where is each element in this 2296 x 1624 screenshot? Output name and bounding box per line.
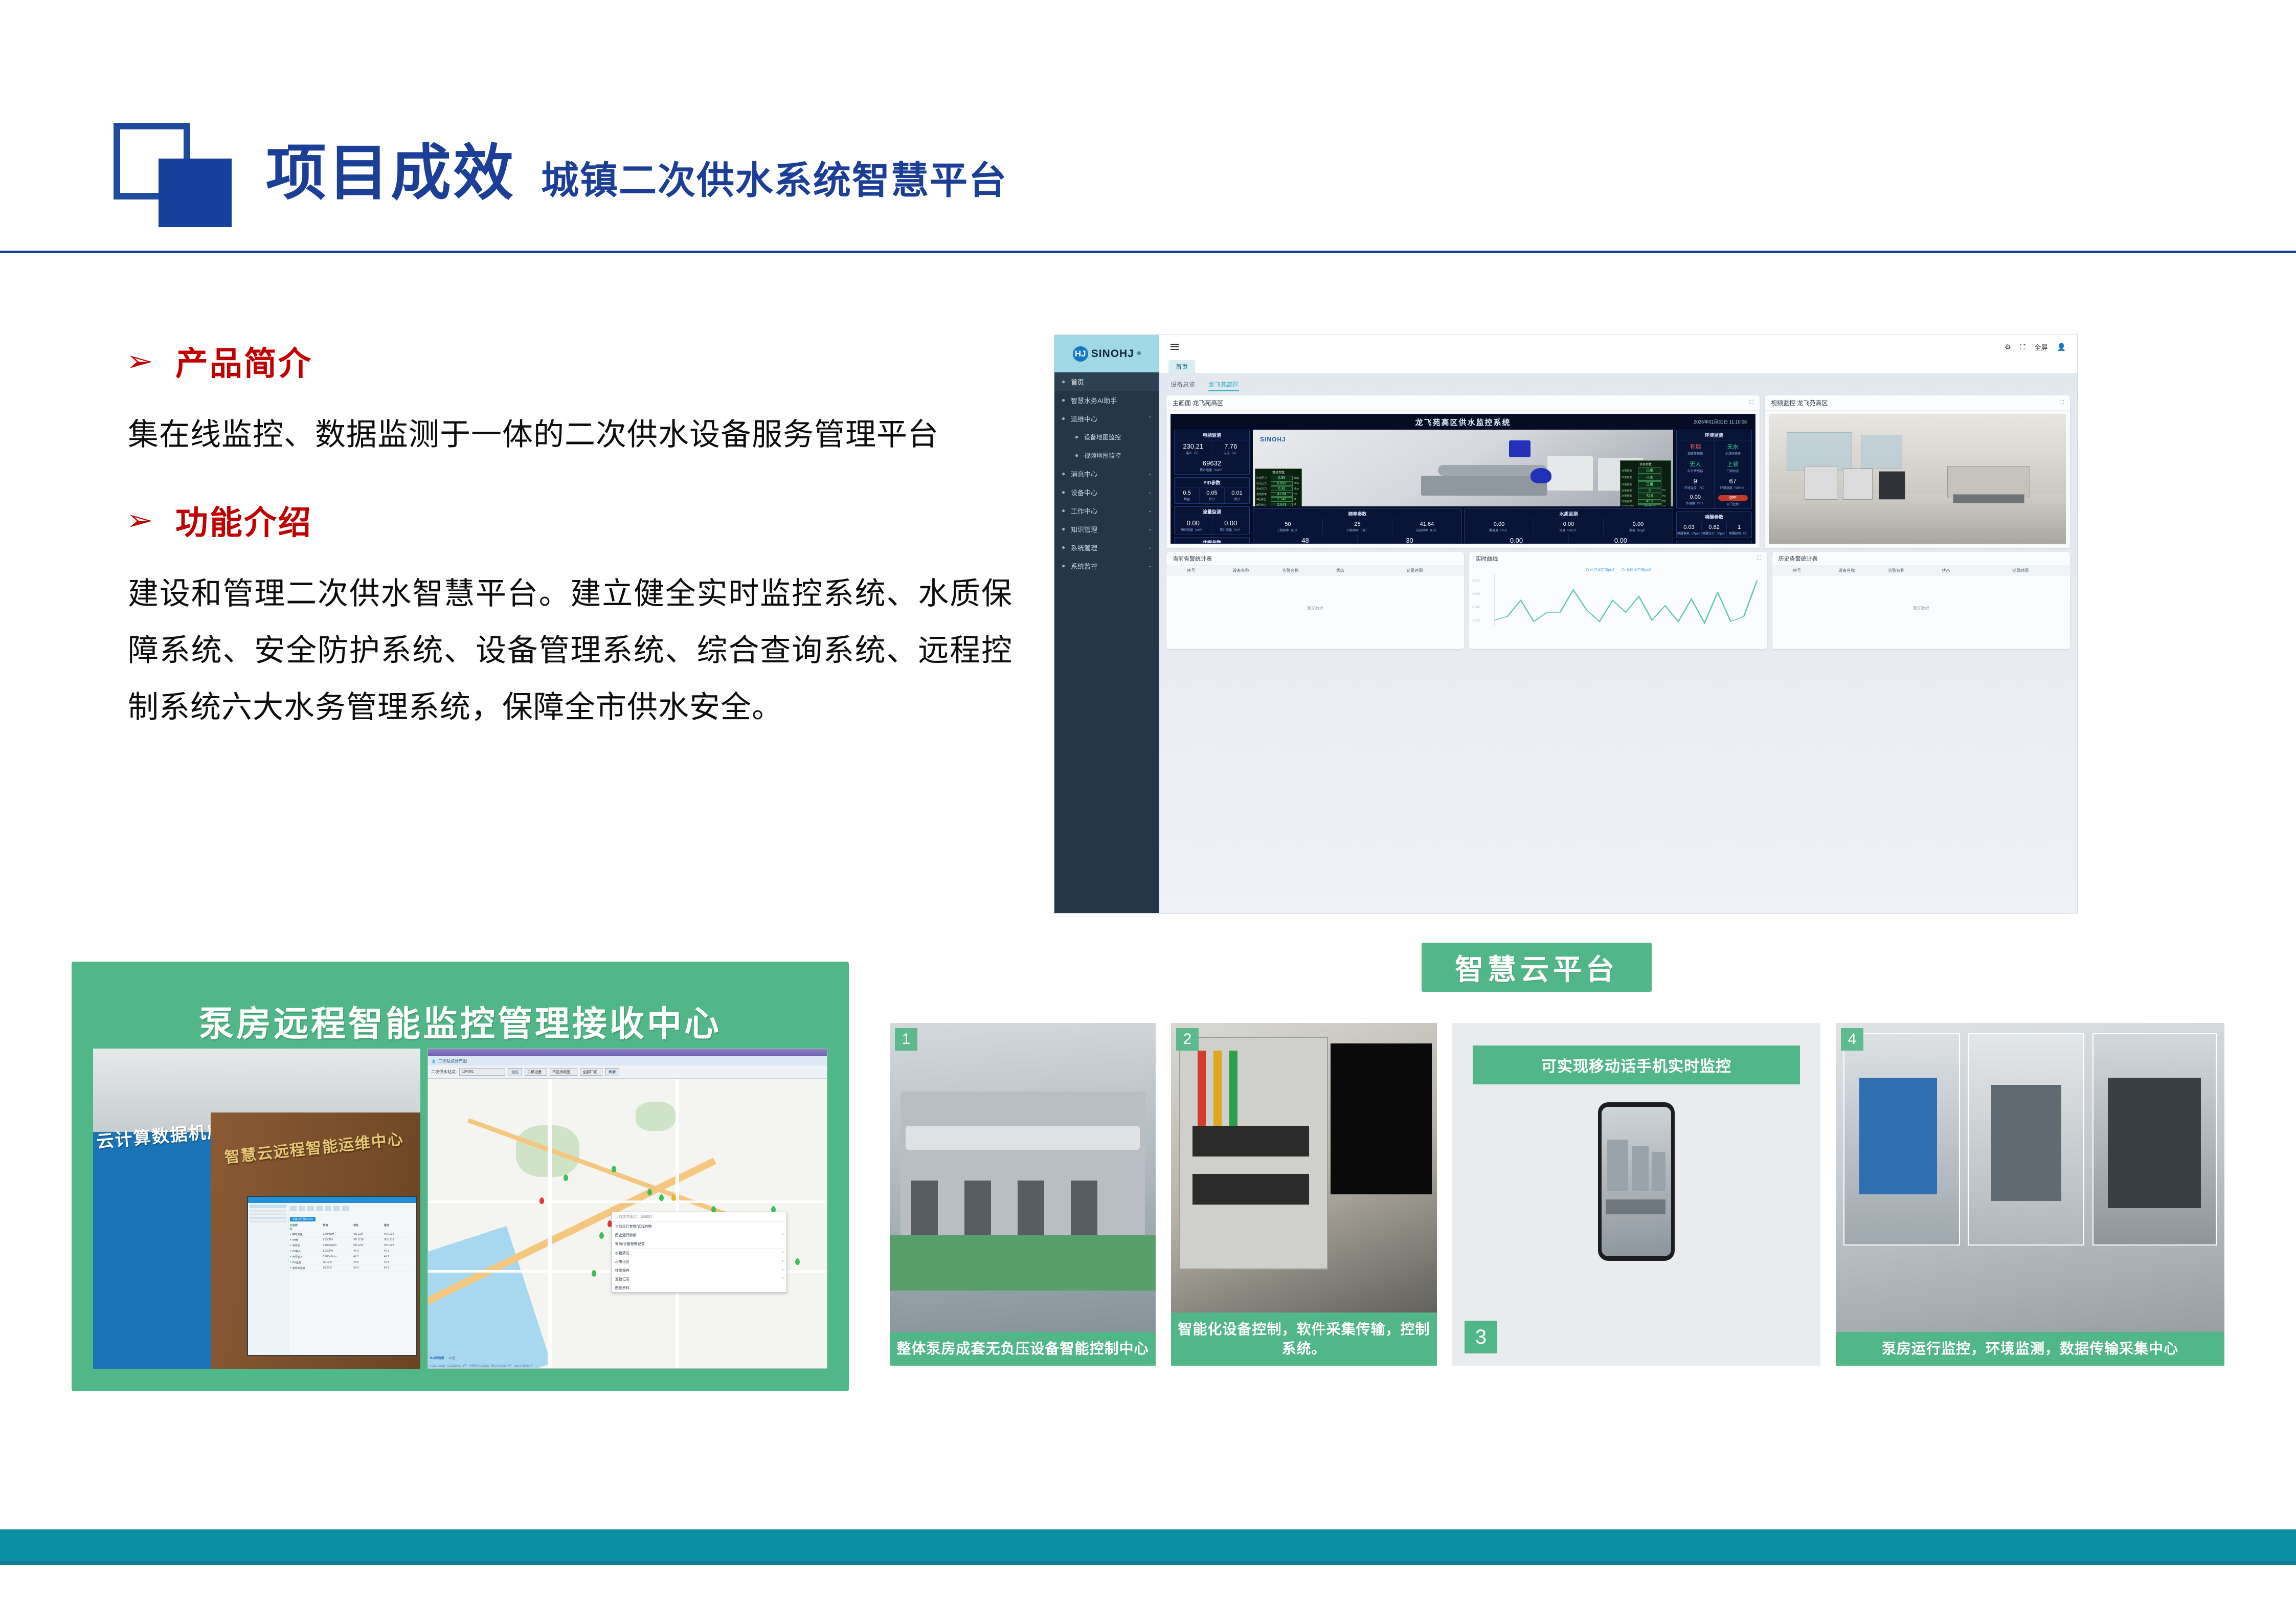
locate-button[interactable]: 定位 xyxy=(508,1068,522,1076)
site-select-input[interactable]: 104001 xyxy=(459,1068,505,1076)
monitor-table-row: ●PH输入8.250PH4X 34X 3 xyxy=(290,1249,415,1255)
dashboard-screenshot: HJ SINOHJ ® ●首页●智慧水务AI助手●运维中心⌃●设备地图监控●视频… xyxy=(1054,335,2077,913)
scada-box-environment: 环境监测有烟烟雾传感器无水水浸传感器无人红外传感器上锁门锁状态9环境温度（℃）6… xyxy=(1676,430,1752,509)
pump-param-value: 2.148 xyxy=(1271,497,1293,502)
sidebar-item-label: 首页 xyxy=(1071,377,1084,387)
chart-legend: 压力设定值pic3管网压力值pic3 xyxy=(1473,567,1763,572)
dashboard-body: 设备总览龙飞苑高区 主画面 龙飞苑高区 ⛶ 龙飞苑高区供水监控系统 2026年0… xyxy=(1159,373,2077,913)
section-heading-product: ➢ 产品简介 xyxy=(128,338,1012,385)
scada-box-title: 唤醒参数 xyxy=(1677,512,1751,522)
scada-value-cell: 0.03唤醒偏差（Mpa） xyxy=(1677,522,1702,538)
water-param-unit: Hz xyxy=(1662,489,1670,492)
dashboard-cards-row: 主画面 龙飞苑高区 ⛶ 龙飞苑高区供水监控系统 2026年01月31日 11:1… xyxy=(1166,395,2070,548)
chevron-right-icon: › xyxy=(782,1251,783,1256)
scada-value-cell: 7.76电流（A） xyxy=(1212,440,1250,457)
scada-screen: 龙飞苑高区供水监控系统 2026年01月31日 11:10:08 电能监测230… xyxy=(1170,414,1755,544)
scada-status-cell: 有烟烟雾传感器 xyxy=(1677,440,1715,458)
pump-params-overlay: 泵机参数 进水压力0.85Mpa出水压力0.859Mpa低水压力0.38Mpa变… xyxy=(1255,469,1302,506)
map-context-menu[interactable]: 当前选中站点：104001 当前运行参数/远程控制历史运行参数›安防/设备报警记… xyxy=(612,1212,787,1293)
water-param-value: 350600 xyxy=(1638,504,1661,506)
baidu-map-logo: Bai百地图 xyxy=(430,1355,444,1360)
chevron-icon[interactable]: ⌄ xyxy=(1148,471,1152,477)
water-quality-panel: 水质监测0.00酸碱度（PH）0.00浊度（NTU）0.00余氯（mg/l）0.… xyxy=(1464,508,1673,544)
card-scada-header: 主画面 龙飞苑高区 ⛶ xyxy=(1166,395,1760,411)
map-pin-site[interactable] xyxy=(647,1189,652,1195)
tile-caption-3: 可实现移动话手机实时监控 xyxy=(1473,1045,1800,1084)
scada-value-cell: 25下限频率（Hz） xyxy=(1323,519,1392,535)
water-param-label: 3#泵频率 xyxy=(1622,500,1637,503)
subtab-设备总览[interactable]: 设备总览 xyxy=(1170,380,1195,391)
footer-accent-line xyxy=(0,1561,2296,1565)
topbar-actions: ⚙ ⛶ 全屏 👤 xyxy=(2005,342,2066,352)
scada-value-cell: 0.00累计流量（m³） xyxy=(1212,517,1250,534)
current-alarms-header: 当前告警统计表 xyxy=(1166,552,1464,565)
toolbar-icon-边缘计算[interactable] xyxy=(316,1206,323,1211)
map-pin-site[interactable] xyxy=(599,1232,604,1239)
sidebar-item-label: 视频地图监控 xyxy=(1084,451,1121,460)
scada-box-水质监测: 水质监测0.00酸碱度（PH）0.00浊度（NTU）0.00余氯（mg/l）0.… xyxy=(1464,508,1673,544)
pump-param-row: 变频频率41.64Hz xyxy=(1256,492,1300,497)
scada-value-row: 0.03唤醒偏差（Mpa）0.82唤醒压力（Mpa）1唤醒延时（S） xyxy=(1677,522,1751,538)
toolbar-icon-视频公诉[interactable] xyxy=(333,1206,340,1211)
fullscreen-label[interactable]: 全屏 xyxy=(2035,342,2048,352)
card-video-header: 视频监控 龙飞苑高区 ⛶ xyxy=(1765,395,2070,411)
sidebar-item-运维中心[interactable]: ●运维中心⌃ xyxy=(1054,409,1159,428)
sidebar-item-工作中心[interactable]: ●工作中心⌄ xyxy=(1054,501,1159,520)
column-header: 序号 xyxy=(1772,568,1822,573)
card-scada: 主画面 龙飞苑高区 ⛶ 龙飞苑高区供水监控系统 2026年01月31日 11:1… xyxy=(1166,395,1760,548)
chart-svg xyxy=(1473,572,1763,629)
monitor-table-row: ●瞬时流量0.00m3/HVD 1234VD 1234 xyxy=(290,1232,415,1238)
water-param-label: 1#累计时长 xyxy=(1622,505,1637,506)
scada-value-label: 累计电量（Kwh） xyxy=(1175,468,1249,472)
legend-label: 管网压力值pic3 xyxy=(1626,568,1651,572)
scada-box-PID参数: PID参数0.5增益0.05积分0.01微分 xyxy=(1174,477,1250,504)
equipment-render xyxy=(1607,1140,1628,1190)
blue-cabinet xyxy=(1859,1078,1937,1194)
water-param-value: 已用 xyxy=(1638,475,1661,481)
water-param-value: 0 xyxy=(1638,488,1661,493)
map-window-title: 二供站点分布图 xyxy=(438,1058,467,1064)
scada-value-label: 水温度（℃） xyxy=(1677,501,1714,505)
scada-value-label: 微分 xyxy=(1225,497,1249,501)
sidebar-item-设备中心[interactable]: ●设备中心⌄ xyxy=(1054,483,1159,501)
chevron-right-icon: › xyxy=(782,1233,783,1238)
water-param-unit: Hz xyxy=(1662,495,1670,498)
expand-icon[interactable]: ⛶ xyxy=(1757,555,1761,562)
scada-value-label: 唤醒压力（Mpa） xyxy=(1702,531,1726,536)
scada-value: 0.03 xyxy=(1677,524,1701,530)
scada-value-cell: 230.21电压（V） xyxy=(1175,440,1212,457)
scada-left-column: 电能监测230.21电压（V）7.76电流（A）69632累计电量（Kwh）PI… xyxy=(1174,430,1250,544)
scada-value-label: 环境温度（℃） xyxy=(1677,485,1714,490)
water-param-label: 2#泵频率 xyxy=(1622,494,1637,498)
product-intro-paragraph: 集在线监控、数据监测于一体的二次供水设备服务管理平台 xyxy=(128,406,1012,463)
pump-param-row: 进水压力0.85Mpa xyxy=(1256,476,1300,480)
pump-param-unit: Mpa xyxy=(1294,482,1300,485)
scada-value-cell: 48变频切换频率（Hz） xyxy=(1253,535,1358,544)
scada-value-cell: 0.00溶解氧（mg/l） xyxy=(1465,535,1569,544)
toolbar-icon-测点配置[interactable] xyxy=(342,1206,349,1211)
scada-value-cell: 0.00电导率（μs/cm） xyxy=(1569,535,1673,544)
scada-value-label: 浊度（NTU） xyxy=(1535,528,1603,532)
chevron-icon[interactable]: ⌃ xyxy=(1148,416,1152,421)
device-type-select[interactable]: 二供设备 xyxy=(525,1068,547,1076)
device-description: 4X 3 xyxy=(384,1250,415,1253)
legend-item[interactable]: 压力设定值pic3 xyxy=(1586,567,1615,572)
scada-value-row: 0.00水温度（℃）OFF开门控制 xyxy=(1677,492,1751,508)
monitor-titlebar xyxy=(248,1197,416,1203)
section-label-product: 产品简介 xyxy=(175,338,312,385)
message-icon: ● xyxy=(1062,470,1071,477)
fullscreen-icon[interactable]: ⛶ xyxy=(2020,343,2025,351)
scada-value-label: 累计流量（m³） xyxy=(1213,527,1249,532)
terminal-block xyxy=(1192,1174,1310,1205)
column-header: 告警名称 xyxy=(1266,568,1315,573)
legend-item[interactable]: 管网压力值pic3 xyxy=(1622,567,1651,572)
scada-value: 50 xyxy=(1254,521,1322,527)
history-alarms-header: 历史告警统计表 xyxy=(1772,552,2070,565)
wall-monitor: 设备运行监控 (61) 状态名称数值地址描述 ●瞬时流量0.00m3/HVD 1… xyxy=(247,1196,417,1356)
context-menu-item[interactable]: 历史运行参数› xyxy=(612,1231,786,1239)
water-params-title: 水机参数 xyxy=(1622,462,1670,466)
scada-value: 69632 xyxy=(1175,459,1249,467)
current-alarms-columns: 序号设备名称告警名称状态记录时间 xyxy=(1166,565,1464,576)
tree-search-box[interactable] xyxy=(250,1205,286,1208)
sidebar-item-系统监控[interactable]: ●系统监控⌄ xyxy=(1054,557,1159,575)
context-menu-item[interactable]: 水箱清洗› xyxy=(612,1248,786,1257)
park-area xyxy=(636,1102,676,1131)
footer-band xyxy=(0,1529,2296,1561)
ribbon-title: 泵房远程智能监控管理接收中心 xyxy=(72,995,849,1046)
sidebar-item-label: 系统监控 xyxy=(1071,561,1097,571)
sidebar-item-视频地图监控[interactable]: ●视频地图监控 xyxy=(1054,446,1159,464)
y-tick-label: 0.050 xyxy=(1472,588,1480,601)
map-pin-site[interactable] xyxy=(612,1166,616,1172)
pump-param-unit: Hz xyxy=(1294,493,1300,496)
scada-value: 0.00 xyxy=(1604,521,1672,527)
current-alarms-title: 当前告警统计表 xyxy=(1173,554,1212,563)
map-canvas[interactable]: 当前选中站点：104001 当前运行参数/远程控制历史运行参数›安防/设备报警记… xyxy=(428,1079,827,1368)
scada-box-title: 休眠参数 xyxy=(1175,538,1249,544)
scada-value-row: 48变频切换频率（Hz）30工频切除频率（Hz） xyxy=(1253,535,1461,544)
base-frame xyxy=(1606,1199,1665,1214)
monitor-icon: ● xyxy=(1062,562,1071,569)
context-menu-header: 当前选中站点：104001 xyxy=(612,1212,786,1222)
scada-box-换泵参数: 换泵参数1轮换方式480轮换时间3泵台数 xyxy=(1676,541,1752,544)
sidebar-item-首页[interactable]: ●首页 xyxy=(1054,372,1159,391)
scada-value: 0.00 xyxy=(1535,521,1603,527)
device-address: VD 1222 xyxy=(353,1244,384,1248)
water-param-unit: Hz xyxy=(1662,500,1670,503)
gray-cabinet xyxy=(1991,1085,2061,1202)
scada-value: 0.82 xyxy=(1702,524,1726,530)
dashboard-logo: HJ SINOHJ ® xyxy=(1054,335,1159,372)
scada-value: 41.64 xyxy=(1393,521,1461,527)
scada-box-频率参数: 频率参数50上限频率（Hz）25下限频率（Hz）41.64当前频率（Hz）48变… xyxy=(1253,508,1462,544)
sidebar-item-消息中心[interactable]: ●消息中心⌄ xyxy=(1054,464,1159,483)
scada-value-cell: 30工频切除频率（Hz） xyxy=(1358,535,1461,544)
context-menu-item[interactable]: 图纸资料 xyxy=(612,1283,786,1292)
photo-tile-2: 2 智能化设备控制，软件采集传输，控制系统。 xyxy=(1171,1023,1437,1366)
context-menu-item[interactable]: 巡检记录› xyxy=(612,1275,786,1283)
chevron-icon[interactable]: ⌄ xyxy=(1148,545,1152,550)
sidebar-item-系统管理[interactable]: ●系统管理⌄ xyxy=(1054,538,1159,557)
manifold-pipe xyxy=(906,1126,1140,1150)
y-tick-label: 0.061 xyxy=(1472,574,1480,588)
pump-param-label: 变频频率 xyxy=(1256,493,1270,496)
scada-box-title: 频率参数 xyxy=(1253,509,1461,519)
scada-value: 0.00 xyxy=(1677,494,1714,500)
context-menu-label: 水箱清洗 xyxy=(615,1251,629,1256)
title-row: 项目成效 城镇二次供水系统智慧平台 xyxy=(266,143,1007,204)
scada-value: 0.5 xyxy=(1175,490,1199,496)
pump-param-label: A柜液位 xyxy=(1256,498,1270,501)
scada-box-title: 换泵参数 xyxy=(1677,541,1751,544)
context-menu-item[interactable]: 安防/设备报警记录 xyxy=(612,1239,786,1248)
site-map-photo: 💧 二供站点分布图 二次供水站点: 104001 定位 二供设备 不显示标签 全… xyxy=(427,1049,827,1369)
device-description: VD 1234 xyxy=(384,1233,415,1236)
scada-value: 30 xyxy=(1358,537,1461,544)
epoxy-floor xyxy=(890,1235,1156,1290)
context-menu-label: 水质化验 xyxy=(615,1259,629,1264)
sidebar-item-label: 设备中心 xyxy=(1071,487,1097,497)
scada-box-休眠参数: 休眠参数41休眠频率（Hz）5休眠延时（S） xyxy=(1174,537,1250,544)
history-alarms-columns: 序号设备名称告警名称状态记录时间 xyxy=(1772,565,2070,576)
chevron-icon[interactable]: ⌄ xyxy=(1148,526,1152,532)
current-alarms-empty: 暂无数据 xyxy=(1166,576,1464,611)
scada-value: 0.01 xyxy=(1225,490,1249,496)
scada-status-cell: 无人红外传感器 xyxy=(1677,458,1715,475)
legend-label: 压力设定值pic3 xyxy=(1590,568,1615,572)
device-monitor-badge: 设备运行监控 (61) xyxy=(290,1217,316,1221)
context-menu-items: 当前运行参数/远程控制历史运行参数›安防/设备报警记录水箱清洗›水质化验›维修保… xyxy=(612,1222,786,1292)
context-menu-item[interactable]: 水质化验› xyxy=(612,1257,786,1266)
realtime-chart: 压力设定值pic3管网压力值pic3 0.0610.0500.0450.032 xyxy=(1469,565,1767,637)
sidebar-item-设备地图监控[interactable]: ●设备地图监控 xyxy=(1054,428,1159,446)
monitor-column-header: 名称 xyxy=(292,1223,323,1231)
water-param-value: 已用 xyxy=(1638,481,1661,487)
map-attribution: © 2021 Baidu - GS(2019)5218号 - 甲测资字11009… xyxy=(430,1364,533,1368)
monitor-toolbar xyxy=(290,1205,415,1213)
toolbar-icon-行为指索[interactable] xyxy=(307,1206,314,1211)
map-pin-site[interactable] xyxy=(564,1174,568,1181)
device-value: 8.250PH xyxy=(323,1238,353,1242)
pump-base xyxy=(1953,494,2024,503)
chevron-icon[interactable]: ⌄ xyxy=(1148,508,1152,514)
scada-value-cell: 0.00余氯（mg/l） xyxy=(1604,519,1673,535)
scada-status-label: 红外传感器 xyxy=(1677,469,1714,473)
tree-node[interactable] xyxy=(250,1210,286,1212)
scada-box-title: 流量监测 xyxy=(1175,507,1249,517)
knowledge-icon: ● xyxy=(1062,525,1071,532)
pump-param-label: 进水压力 xyxy=(1256,476,1270,480)
blue-wall xyxy=(93,1132,211,1369)
legend-marker xyxy=(1622,568,1625,571)
scada-value-label: 电流（A） xyxy=(1213,451,1249,455)
scada-value-cell: 0.00水温度（℃） xyxy=(1677,492,1715,508)
expand-icon[interactable]: ⛶ xyxy=(1749,399,1753,406)
water-drop-icon: 💧 xyxy=(431,1059,436,1063)
photo-tile-3: 可实现移动话手机实时监控 3 xyxy=(1452,1023,1820,1366)
scada-value-label: 电压（V） xyxy=(1175,451,1211,455)
device-address: VD 1234 xyxy=(353,1233,384,1236)
column-header: 序号 xyxy=(1166,568,1216,573)
ops-icon: ● xyxy=(1062,415,1071,422)
frequency-panel: 频率参数50上限频率（Hz）25下限频率（Hz）41.64当前频率（Hz）48变… xyxy=(1253,508,1462,544)
hamburger-menu-icon[interactable] xyxy=(1170,342,1179,351)
pump-param-row: 出水压力0.859Mpa xyxy=(1256,481,1300,486)
door-toggle-button[interactable]: OFF xyxy=(1718,495,1748,501)
sidebar-item-知识管理[interactable]: ●知识管理⌄ xyxy=(1054,520,1159,538)
home-icon: ● xyxy=(1062,378,1071,385)
scada-value: 230.21 xyxy=(1175,442,1211,450)
arrow-bullet-icon: ➢ xyxy=(126,347,153,375)
sidebar-item-label: 设备地图监控 xyxy=(1084,433,1121,441)
scada-value-row: 69632累计电量（Kwh） xyxy=(1175,457,1249,474)
blue-accumulator xyxy=(1530,468,1551,483)
user-avatar-icon[interactable]: 👤 xyxy=(2057,343,2066,351)
sinohj-wordmark: SINOHJ xyxy=(1091,348,1134,360)
scada-value: 0.00 xyxy=(1213,519,1249,527)
context-menu-label: 图纸资料 xyxy=(615,1285,629,1291)
pump-param-label: B柜液位 xyxy=(1256,503,1270,507)
pump-param-unit: Mpa xyxy=(1294,477,1300,480)
device-address: 4X 5 xyxy=(353,1266,384,1270)
scada-value-label: 下限频率（Hz） xyxy=(1323,528,1391,532)
device-name: 电导率 xyxy=(292,1244,323,1248)
photo-tile-1: 1 整体泵房成套无负压设备智能控制中心 xyxy=(890,1023,1156,1366)
scada-value-row: 0.00酸碱度（PH）0.00浊度（NTU）0.00余氯（mg/l） xyxy=(1465,519,1673,535)
dashboard-main: ⚙ ⛶ 全屏 👤 首页 设备总览龙飞苑高区 主画面 龙飞苑高区 ⛶ 龙飞苑高区供… xyxy=(1159,335,2077,913)
scada-value-row: 230.21电压（V）7.76电流（A） xyxy=(1175,440,1249,457)
device-name: PH温度 xyxy=(292,1261,323,1264)
toolbar-icon-组态画面[interactable] xyxy=(290,1206,297,1211)
header-divider xyxy=(0,251,2296,253)
scada-status-cell: 上锁门锁状态 xyxy=(1715,458,1752,475)
tree-node-selected[interactable] xyxy=(250,1217,286,1219)
device-description: 4X 5 xyxy=(384,1266,415,1270)
pump-params-rows: 进水压力0.85Mpa出水压力0.859Mpa低水压力0.38Mpa变频频率41… xyxy=(1256,476,1300,506)
pump-param-value: 0.85 xyxy=(1271,476,1293,480)
context-menu-item[interactable]: 当前运行参数/远程控制 xyxy=(612,1222,786,1231)
pump-param-unit: M xyxy=(1294,503,1300,506)
map-pin-site[interactable] xyxy=(592,1270,596,1277)
scada-value-cell: 0.5增益 xyxy=(1175,488,1200,503)
refresh-button[interactable]: 刷新 xyxy=(605,1068,619,1076)
scada-value-row: 0.00溶解氧（mg/l）0.00电导率（μs/cm） xyxy=(1465,535,1673,544)
toolbar-icon-报警记录[interactable] xyxy=(299,1206,305,1211)
wire-red xyxy=(1198,1051,1206,1126)
street xyxy=(548,1079,552,1368)
pump-param-value: 41.64 xyxy=(1271,492,1293,497)
site-select-label: 二次供水站点: xyxy=(431,1069,457,1075)
tile-number-4: 4 xyxy=(1841,1028,1863,1051)
context-menu-label: 巡检记录 xyxy=(615,1277,629,1282)
scada-value-row: 0.00瞬时流量（m³/h）0.00累计流量（m³） xyxy=(1175,517,1249,534)
tree-node[interactable] xyxy=(250,1213,286,1215)
device-name: 电导率温度 xyxy=(292,1266,323,1270)
scada-value: 9 xyxy=(1677,477,1714,485)
map-toolbar: 二次供水站点: 104001 定位 二供设备 不显示标签 全部厂家 刷新 xyxy=(428,1065,827,1079)
water-param-row: 3#泵状态已用 xyxy=(1622,481,1670,487)
logo-mark xyxy=(114,123,231,207)
chat-icon: ● xyxy=(1062,396,1071,404)
window-mid xyxy=(1861,435,1902,469)
sidebar-item-label: 系统管理 xyxy=(1071,543,1097,552)
pump-param-unit: Mpa xyxy=(1294,487,1300,491)
tile-number-1: 1 xyxy=(895,1028,917,1051)
scada-value-row: 50上限频率（Hz）25下限频率（Hz）41.64当前频率（Hz） xyxy=(1253,519,1461,535)
cloud-platform-banner: 智慧云平台 xyxy=(1422,943,1652,992)
y-tick-label: 0.045 xyxy=(1472,601,1480,614)
water-param-label: 1#泵状态 xyxy=(1622,469,1637,473)
gear-icon[interactable]: ⚙ xyxy=(2005,343,2011,351)
dashboard-bottom-row: 当前告警统计表 序号设备名称告警名称状态记录时间 暂无数据 实时曲线 ⛶ 压力设… xyxy=(1166,552,2070,649)
legend-marker xyxy=(1586,568,1589,571)
sidebar-item-智慧水务AI助手[interactable]: ●智慧水务AI助手 xyxy=(1054,391,1159,409)
device-description: VD 1222 xyxy=(384,1244,415,1248)
pump-param-value: 2.043 xyxy=(1271,503,1293,507)
green-ribbon: 泵房远程智能监控管理接收中心 xyxy=(72,962,849,1037)
vendor-select[interactable]: 全部厂家 xyxy=(580,1068,602,1076)
pump-param-row: A柜液位2.148M xyxy=(1256,497,1300,502)
map-pin-site[interactable] xyxy=(795,1258,800,1265)
label-display-select[interactable]: 不显示标签 xyxy=(550,1068,577,1076)
realtime-curve-header: 实时曲线 ⛶ xyxy=(1469,552,1767,565)
map-window-titlebar xyxy=(428,1049,827,1056)
subtab-龙飞苑高区[interactable]: 龙飞苑高区 xyxy=(1208,380,1239,391)
door-control-cell: OFF开门控制 xyxy=(1715,492,1752,508)
scada-status-label: 水浸传感器 xyxy=(1715,451,1751,456)
scada-value-label: 增益 xyxy=(1175,497,1199,501)
scada-value: 25 xyxy=(1323,521,1391,527)
scada-value: 0.05 xyxy=(1200,490,1224,496)
scada-status-cell: 无水水浸传感器 xyxy=(1715,440,1752,458)
feature-intro-paragraph: 建设和管理二次供水智慧平台。建立健全实时监控系统、水质保障系统、安全防护系统、设… xyxy=(128,565,1012,736)
sidebar-item-label: 知识管理 xyxy=(1071,524,1097,534)
toolbar-icon-远控下载[interactable] xyxy=(325,1206,331,1211)
dashboard-tabbar: 首页 xyxy=(1159,359,2077,373)
monitor-table-row: ●PH温度25.12℃4X 54X 5 xyxy=(290,1260,415,1266)
device-address: 4X 3 xyxy=(353,1250,384,1253)
context-menu-item[interactable]: 维修保养› xyxy=(612,1266,786,1275)
work-icon: ● xyxy=(1062,507,1071,514)
expand-icon[interactable]: ⛶ xyxy=(2060,399,2064,406)
scada-status-value: 上锁 xyxy=(1715,460,1751,468)
tree-node[interactable] xyxy=(250,1220,286,1222)
scada-status-value: 有烟 xyxy=(1677,442,1714,451)
arrow-bullet-icon: ➢ xyxy=(126,506,153,535)
section-label-features: 功能介绍 xyxy=(175,497,312,544)
column-header: 设备名称 xyxy=(1216,568,1266,573)
scada-value-cell: 1唤醒延时（S） xyxy=(1727,522,1751,538)
map-pin-warning[interactable] xyxy=(671,1194,676,1201)
scada-value: 0.00 xyxy=(1569,537,1672,544)
chevron-icon[interactable]: ⌄ xyxy=(1148,563,1152,569)
scada-status-value: 无水 xyxy=(1715,442,1751,451)
device-name: PH输入 xyxy=(292,1250,323,1253)
sinohj-mark-icon: HJ xyxy=(1073,346,1088,362)
tab-home[interactable]: 首页 xyxy=(1168,360,1195,373)
tile-caption-1: 整体泵房成套无负压设备智能控制中心 xyxy=(890,1332,1156,1366)
scada-bottom-panels: 频率参数50上限频率（Hz）25下限频率（Hz）41.64当前频率（Hz）48变… xyxy=(1253,508,1673,544)
tile-number-2: 2 xyxy=(1176,1028,1199,1051)
tile-number-3: 3 xyxy=(1465,1321,1497,1353)
scada-value-cell: 41.64当前频率（Hz） xyxy=(1392,519,1461,535)
cctv-still xyxy=(1769,414,2066,544)
chevron-icon[interactable]: ⌄ xyxy=(1148,490,1152,495)
